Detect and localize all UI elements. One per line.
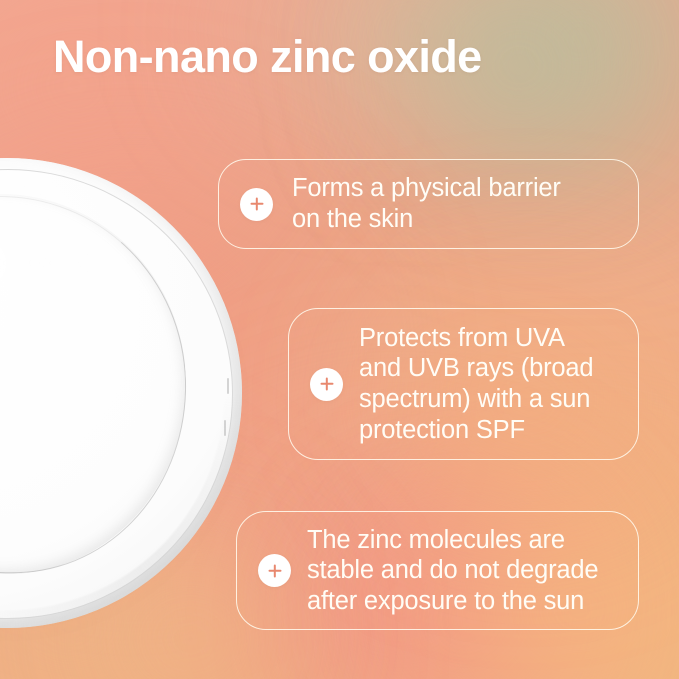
feature-card-stable-molecules: The zinc molecules are stable and do not…	[236, 511, 639, 630]
page-title: Non-nano zinc oxide	[53, 33, 653, 82]
feature-card-text: Protects from UVA and UVB rays (broad sp…	[359, 323, 593, 445]
plus-icon	[258, 554, 291, 587]
feature-card-uva-uvb-protection: Protects from UVA and UVB rays (broad sp…	[288, 308, 639, 460]
product-disc-tick-mark	[224, 420, 226, 436]
plus-icon	[310, 368, 343, 401]
product-disc-tick-mark	[227, 378, 229, 394]
product-disc-edge-highlight	[0, 158, 242, 628]
plus-icon	[240, 188, 273, 221]
feature-card-physical-barrier: Forms a physical barrier on the skin	[218, 159, 639, 249]
feature-card-text: Forms a physical barrier on the skin	[292, 173, 561, 234]
product-image	[0, 158, 242, 628]
product-feature-graphic: Non-nano zinc oxide Forms a physical bar…	[0, 0, 679, 679]
feature-card-text: The zinc molecules are stable and do not…	[307, 525, 598, 617]
